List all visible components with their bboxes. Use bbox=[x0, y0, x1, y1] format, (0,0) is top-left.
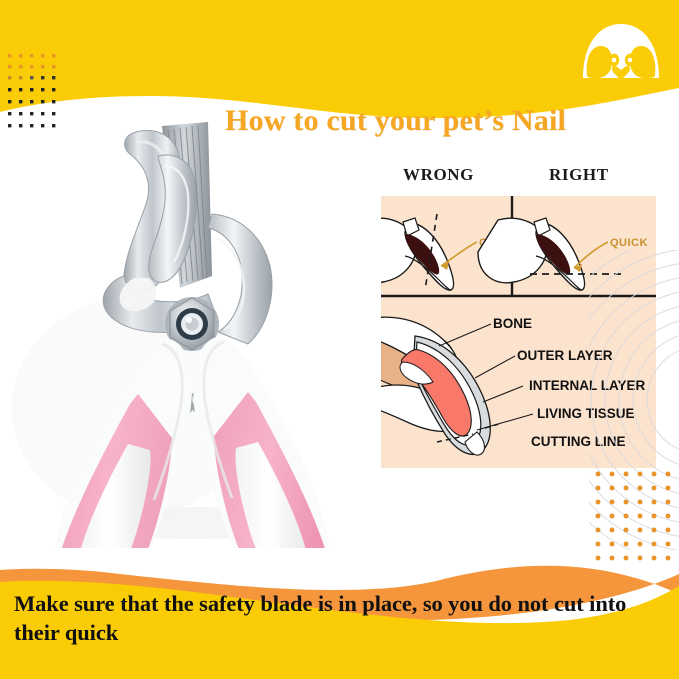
anatomy-label-bone: BONE bbox=[493, 316, 532, 331]
panel-header-right: RIGHT bbox=[549, 165, 609, 185]
anatomy-label-living-tissue: LIVING TISSUE bbox=[537, 406, 635, 421]
dog-face-icon bbox=[575, 18, 667, 80]
anatomy-label-internal-layer: INTERNAL LAYER bbox=[529, 378, 646, 393]
footer-instruction-text: Make sure that the safety blade is in pl… bbox=[14, 589, 666, 647]
quick-label-right: QUICK bbox=[610, 237, 648, 249]
nail-anatomy-panel: QUICK QUICK bbox=[381, 196, 656, 468]
panel-header-wrong: WRONG bbox=[403, 165, 474, 185]
pet-nail-clipper-image bbox=[12, 108, 362, 548]
bottom-banner: Make sure that the safety blade is in pl… bbox=[0, 534, 679, 679]
dog-face-logo bbox=[575, 18, 667, 80]
panel-headers: WRONG RIGHT bbox=[381, 165, 656, 195]
anatomy-label-cutting-line: CUTTING LINE bbox=[531, 434, 626, 449]
anatomy-label-outer-layer: OUTER LAYER bbox=[517, 348, 613, 363]
poster-root: How to cut your pet’s Nail bbox=[0, 0, 679, 679]
